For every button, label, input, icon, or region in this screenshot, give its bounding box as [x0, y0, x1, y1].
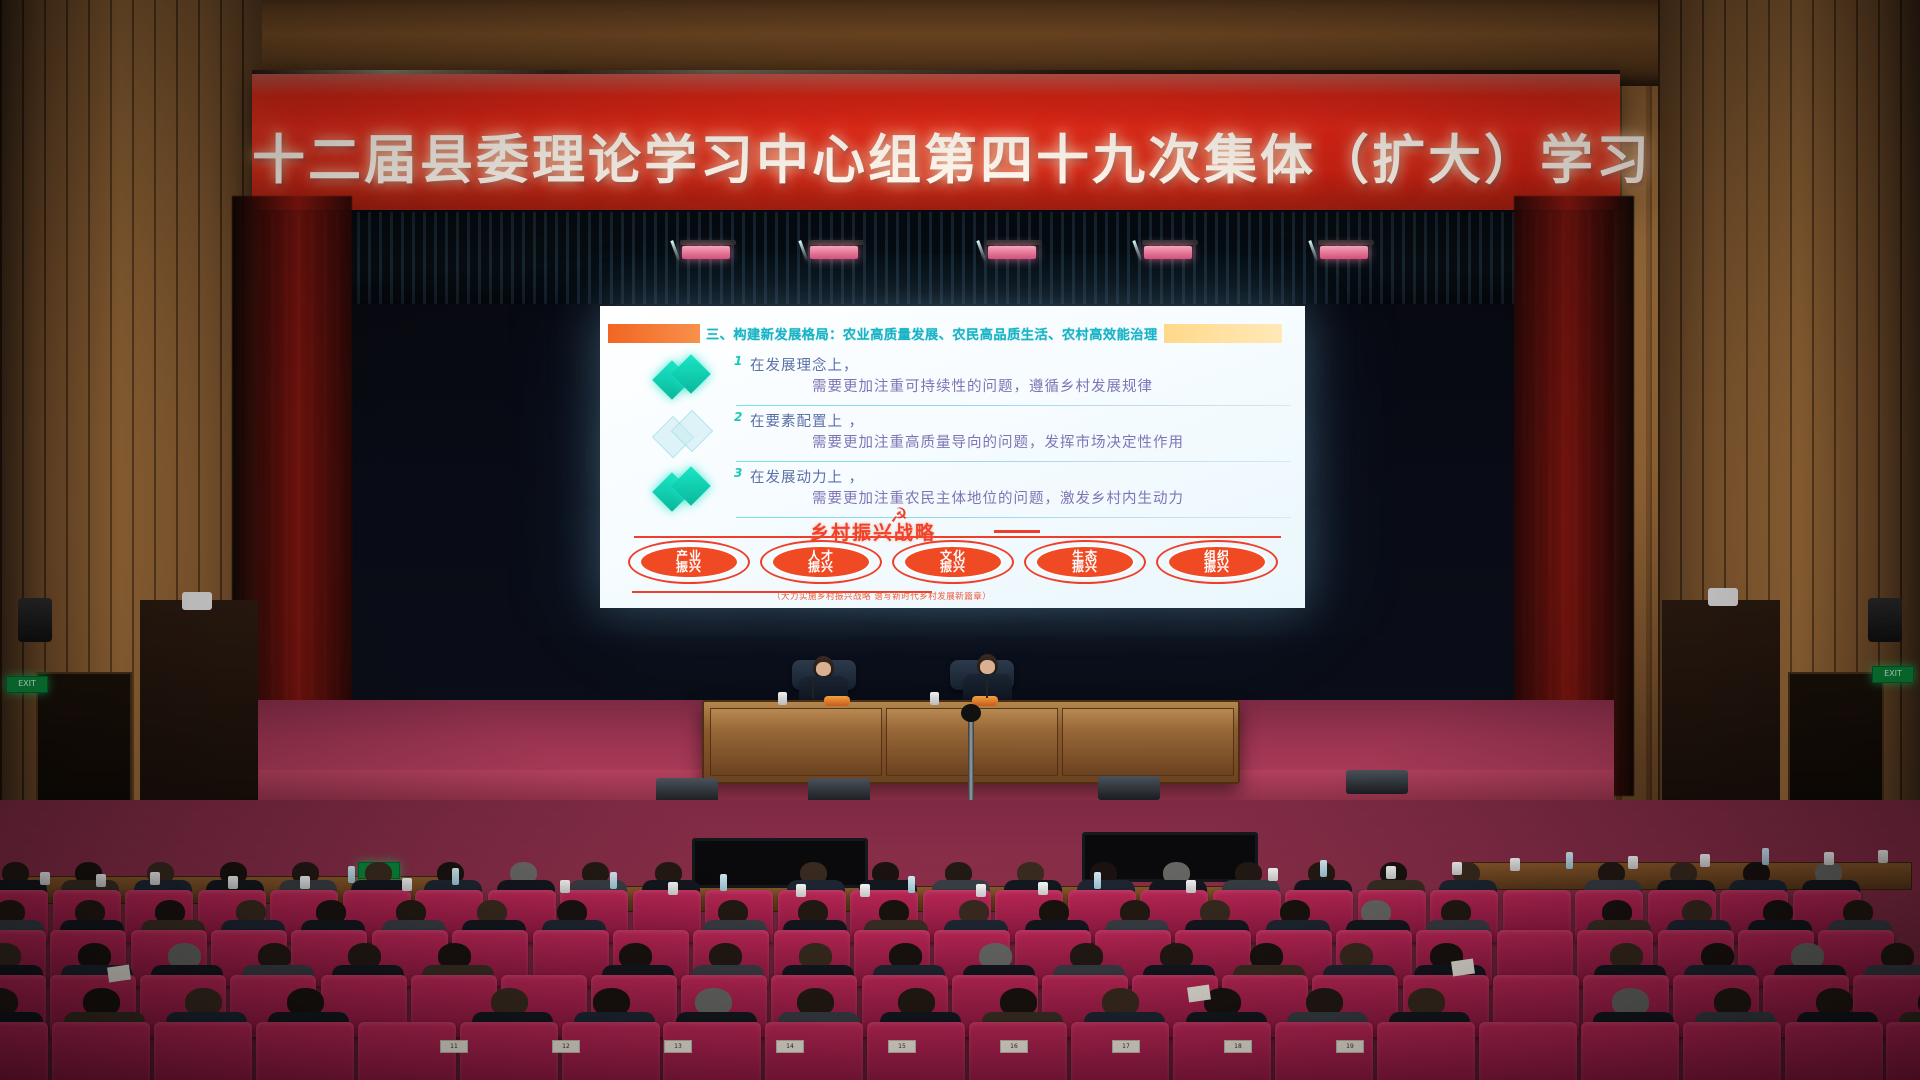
graphic-top-rule: [634, 536, 1281, 538]
water-bottle: [720, 874, 727, 891]
bullet-line-secondary: 需要更加注重高质量导向的问题，发挥市场决定性作用: [812, 431, 1184, 452]
seat-number-card: 12: [552, 1040, 580, 1053]
bullet-number: 2: [734, 410, 742, 424]
table-cup: [976, 884, 986, 897]
bullet-line-secondary: 需要更加注重可持续性的问题，遵循乡村发展规律: [812, 375, 1153, 396]
table-cup: [1386, 866, 1396, 879]
table-cup: [150, 872, 160, 885]
audience-seat: [460, 1022, 558, 1080]
water-bottle: [452, 868, 459, 885]
stage-speaker-monitor: [656, 778, 718, 802]
stage-speaker-monitor: [808, 778, 870, 802]
bullet-underline: [736, 461, 1291, 463]
oval-bottom-text: 振兴: [676, 560, 702, 574]
rural-revitalization-graphic: 乡村振兴战略 ☭ 产业振兴 人才振兴 文化振兴 生态振兴 组织振兴 （大力实施乡…: [622, 514, 1287, 600]
audience-seat: [1479, 1022, 1577, 1080]
table-cup: [560, 880, 570, 893]
oval-item: 生态振兴: [1024, 540, 1146, 584]
surveillance-camera-right: [1708, 588, 1738, 606]
table-cup: [96, 874, 106, 887]
table-cup: [1452, 862, 1462, 875]
audience-seat: [1785, 1022, 1883, 1080]
seat-number-card: 11: [440, 1040, 468, 1053]
table-cup: [778, 692, 787, 705]
audience-seat: [1683, 1022, 1781, 1080]
table-cup: [40, 872, 50, 885]
presentation-slide: 三、构建新发展格局：农业高质量发展、农民高品质生活、农村高效能治理 1 在发展理…: [600, 306, 1305, 608]
audience-seat: [1377, 1022, 1475, 1080]
table-cup: [796, 884, 806, 897]
audience-monitor-left: [692, 838, 868, 888]
table-cup: [860, 884, 870, 897]
table-cup: [1186, 880, 1196, 893]
exit-sign-right: EXIT: [1872, 666, 1914, 683]
water-bottle: [1320, 860, 1327, 877]
table-cup: [402, 878, 412, 891]
seat-number-card: 14: [776, 1040, 804, 1053]
table-cup: [1268, 868, 1278, 881]
seat-number-card: 19: [1336, 1040, 1364, 1053]
oval-item: 人才振兴: [760, 540, 882, 584]
reading-document: [1187, 985, 1211, 1003]
seat-number-card: 16: [1000, 1040, 1028, 1053]
seat-number-card: 15: [888, 1040, 916, 1053]
oval-bottom-text: 振兴: [1204, 560, 1230, 574]
table-cup: [1038, 882, 1048, 895]
water-bottle: [1094, 872, 1101, 889]
oval-bottom-text: 振兴: [1072, 560, 1098, 574]
reading-document: [107, 965, 131, 983]
slide-bullet-list: 1 在发展理念上， 需要更加注重可持续性的问题，遵循乡村发展规律 2 在要素配置…: [616, 354, 1295, 522]
stage-speaker-monitor: [1346, 770, 1408, 794]
bullet-line-secondary: 需要更加注重农民主体地位的问题，激发乡村内生动力: [812, 487, 1184, 508]
surveillance-camera-left: [182, 592, 212, 610]
auditorium-photo: 十二届县委理论学习中心组第四十九次集体（扩大）学习 三、构建新发展格局：农业高质…: [0, 0, 1920, 1080]
bullet-underline: [736, 405, 1291, 407]
table-cup: [1628, 856, 1638, 869]
graphic-dash: [994, 530, 1040, 533]
table-microphone: [986, 680, 988, 698]
audience-seat: [0, 1022, 48, 1080]
audience-seat: [1886, 1022, 1920, 1080]
oval-item: 组织振兴: [1156, 540, 1278, 584]
graphic-oval-row: 产业振兴 人才振兴 文化振兴 生态振兴 组织振兴: [628, 540, 1287, 584]
seat-number-card: 18: [1224, 1040, 1252, 1053]
table-cup: [668, 882, 678, 895]
table-cup: [930, 692, 939, 705]
table-flower-arrangement: [824, 696, 850, 706]
water-bottle: [908, 876, 915, 893]
party-emblem-icon: ☭: [890, 503, 908, 527]
water-bottle: [610, 872, 617, 889]
table-microphone: [812, 680, 814, 698]
water-bottle: [1762, 848, 1769, 865]
seat-number-card: 17: [1112, 1040, 1140, 1053]
oval-item: 文化振兴: [892, 540, 1014, 584]
audience-seat: [867, 1022, 965, 1080]
audience-seat: [256, 1022, 354, 1080]
bullet-number: 1: [734, 354, 742, 368]
slide-orange-accent: [608, 324, 700, 343]
banner-title-text: 十二届县委理论学习中心组第四十九次集体（扩大）学习: [252, 118, 1620, 194]
slide-bullet-2: 2 在要素配置上 ， 需要更加注重高质量导向的问题，发挥市场决定性作用: [616, 410, 1295, 462]
audience-seat: [154, 1022, 252, 1080]
water-bottle: [1566, 852, 1573, 869]
table-cup: [300, 876, 310, 889]
bullet-line-primary: 在要素配置上 ，: [750, 410, 864, 431]
graphic-footnote: （大力实施乡村振兴战略 谱写新时代乡村发展新篇章）: [772, 590, 991, 602]
bullet-line-primary: 在发展动力上 ，: [750, 466, 864, 487]
wall-loudspeaker-left: [18, 598, 52, 642]
slide-bullet-3: 3 在发展动力上 ， 需要更加注重农民主体地位的问题，激发乡村内生动力: [616, 466, 1295, 518]
reading-document: [1451, 959, 1475, 977]
bullet-number: 3: [734, 466, 742, 480]
oval-bottom-text: 振兴: [808, 560, 834, 574]
table-cup: [1700, 854, 1710, 867]
oval-item: 产业振兴: [628, 540, 750, 584]
wall-loudspeaker-right: [1868, 598, 1902, 642]
stage-light-bar: [680, 240, 1400, 268]
bullet-line-primary: 在发展理念上，: [750, 354, 859, 375]
table-cup: [228, 876, 238, 889]
slide-title-bar: 三、构建新发展格局：农业高质量发展、农民高品质生活、农村高效能治理: [608, 322, 1299, 344]
audience-seat: [1581, 1022, 1679, 1080]
projection-screen: 三、构建新发展格局：农业高质量发展、农民高品质生活、农村高效能治理 1 在发展理…: [600, 306, 1305, 608]
table-cup: [1878, 850, 1888, 863]
slide-yellow-accent: [1164, 324, 1282, 343]
water-bottle: [348, 866, 355, 883]
audience-seat: [52, 1022, 150, 1080]
exit-sign-left: EXIT: [6, 676, 48, 693]
slide-title: 三、构建新发展格局：农业高质量发展、农民高品质生活、农村高效能治理: [706, 324, 1158, 343]
oval-bottom-text: 振兴: [940, 560, 966, 574]
audience-seat: [1173, 1022, 1271, 1080]
slide-bullet-1: 1 在发展理念上， 需要更加注重可持续性的问题，遵循乡村发展规律: [616, 354, 1295, 406]
table-cup: [1824, 852, 1834, 865]
stage-speaker-monitor: [1098, 776, 1160, 800]
table-cup: [1510, 858, 1520, 871]
seat-number-card: 13: [664, 1040, 692, 1053]
